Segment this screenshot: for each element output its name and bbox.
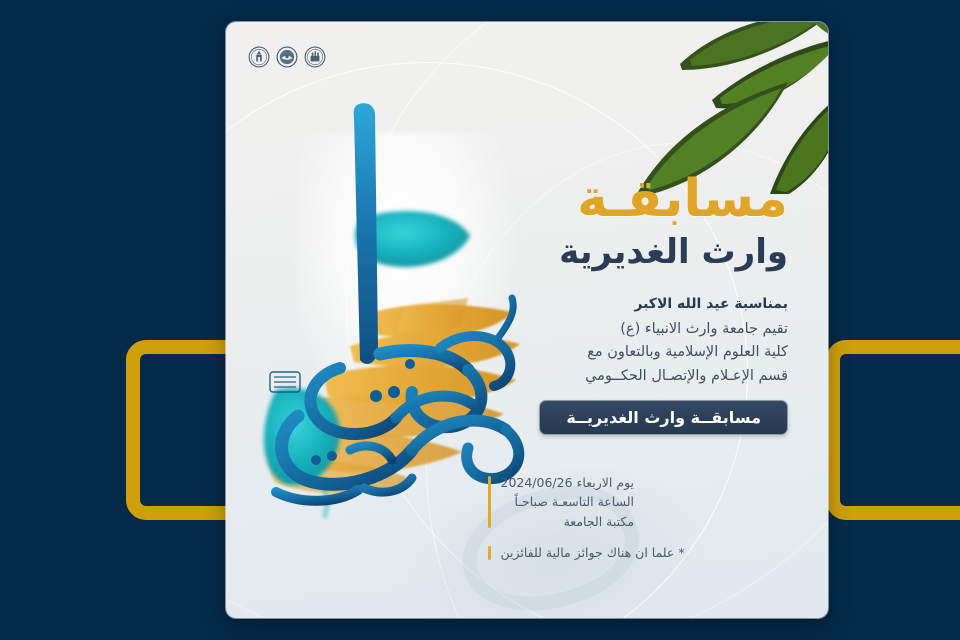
- prize-note: * علما ان هناك جوائز مالية للفائزين: [501, 545, 685, 560]
- page-title-secondary: وارث الغديرية: [488, 233, 788, 272]
- accent-bar: [488, 476, 491, 528]
- university-seal-logo: [248, 46, 270, 68]
- college-seal-logo: [276, 46, 298, 68]
- competition-name-badge[interactable]: مسابقــة وارث الغديريــة: [539, 400, 788, 435]
- poster-card: مسابقـة وارث الغديرية بمناسبة عيد الله ا…: [226, 22, 828, 618]
- description-lead: بمناسبة عيد الله الاكبر: [488, 294, 788, 315]
- description-line: تقيم جامعة وارث الانبياء (ع): [488, 318, 788, 340]
- note-row: * علما ان هناك جوائز مالية للفائزين: [488, 545, 788, 560]
- schedule-block: يوم الاربعاء 2024/06/26 الساعة التاسعـة …: [488, 473, 788, 560]
- description-line: كلية العلوم الإسلامية وبالتعاون مع: [488, 341, 788, 363]
- gold-frame-right: [826, 340, 960, 520]
- schedule-location: مكتبة الجامعة: [501, 512, 635, 531]
- poster-text-column: مسابقـة وارث الغديرية بمناسبة عيد الله ا…: [488, 172, 788, 560]
- media-department-seal-logo: [304, 46, 326, 68]
- page-title-primary: مسابقـة: [488, 172, 788, 227]
- description-line: قسم الإعـلام والإتصـال الحكــومي: [488, 365, 788, 387]
- description-block: بمناسبة عيد الله الاكبر تقيم جامعة وارث …: [488, 294, 788, 387]
- schedule-row: يوم الاربعاء 2024/06/26 الساعة التاسعـة …: [488, 473, 788, 531]
- accent-bar: [488, 546, 491, 560]
- schedule-time: الساعة التاسعـة صباحـاً: [501, 492, 635, 511]
- schedule-date: يوم الاربعاء 2024/06/26: [501, 473, 635, 492]
- logo-row: [248, 46, 326, 68]
- poster-canvas: مسابقـة وارث الغديرية بمناسبة عيد الله ا…: [0, 0, 960, 640]
